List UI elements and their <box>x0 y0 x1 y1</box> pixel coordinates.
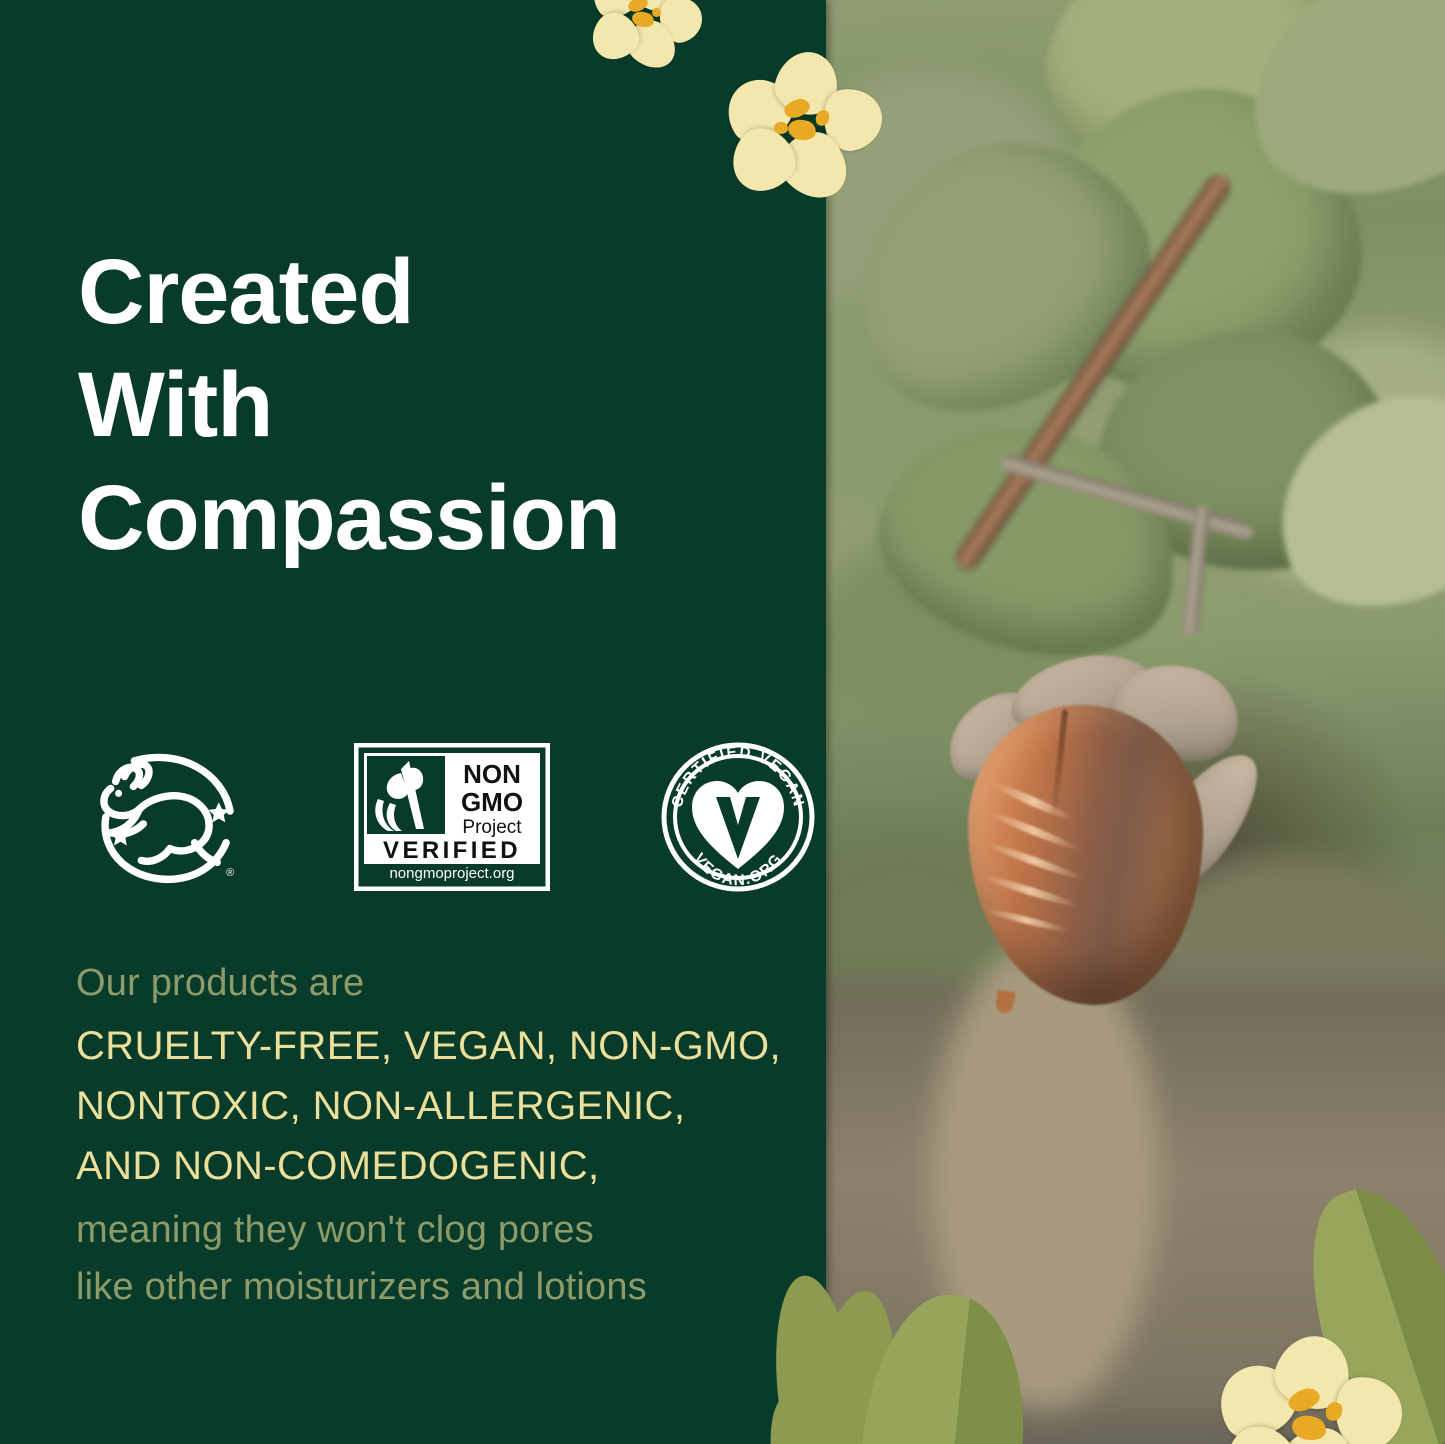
certification-badges: ® NON <box>78 742 818 892</box>
certified-vegan-icon: CERTIFIED VEGAN VEGAN.ORG <box>658 741 818 893</box>
copy-tail: meaning they won't clog pores like other… <box>76 1202 806 1316</box>
gmo-line-4: VERIFIED <box>383 837 521 864</box>
claim-line-3: AND NON-COMEDOGENIC, <box>76 1136 806 1196</box>
claim-line-2: NONTOXIC, NON-ALLERGENIC, <box>76 1076 806 1136</box>
headline-line-2: With <box>78 349 620 462</box>
claim-line-1: CRUELTY-FREE, VEGAN, NON-GMO, <box>76 1016 806 1076</box>
leaping-bunny-icon: ® <box>78 744 246 890</box>
gmo-url: nongmoproject.org <box>389 865 514 882</box>
created-with-compassion-banner: Created With Compassion <box>0 0 1445 1444</box>
page-title: Created With Compassion <box>78 236 620 575</box>
jojoba-nut-body <box>968 705 1203 1005</box>
gmo-line-2: GMO <box>461 787 523 817</box>
gmo-line-1: NON <box>463 759 521 789</box>
gmo-line-3: Project <box>462 817 522 838</box>
tail-line-1: meaning they won't clog pores <box>76 1202 806 1259</box>
copy-lead: Our products are <box>76 955 806 1012</box>
non-gmo-project-verified-icon: NON GMO Project VERIFIED nongmoproject.o… <box>354 743 550 891</box>
green-content-panel: Created With Compassion <box>0 0 826 1444</box>
headline-line-1: Created <box>78 236 620 349</box>
headline-line-3: Compassion <box>78 462 620 575</box>
jojoba-photo <box>820 0 1445 1444</box>
body-copy: Our products are CRUELTY-FREE, VEGAN, NO… <box>76 955 806 1316</box>
bunny-registered-mark: ® <box>226 867 234 879</box>
jojoba-seed <box>938 655 1238 1015</box>
tail-line-2: like other moisturizers and lotions <box>76 1259 806 1316</box>
copy-claims: CRUELTY-FREE, VEGAN, NON-GMO, NONTOXIC, … <box>76 1016 806 1196</box>
